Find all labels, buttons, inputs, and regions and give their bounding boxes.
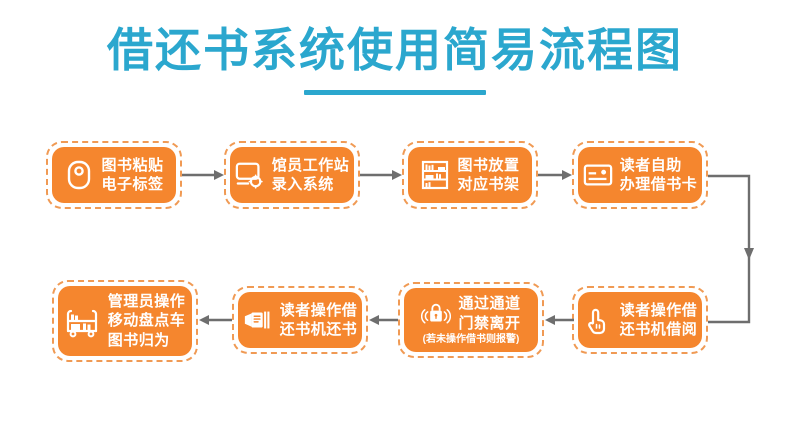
flow-node-admin-mobile-inventory-cart[interactable]: 管理员操作 移动盘点车 图书归为 xyxy=(52,280,198,362)
flowchart-page: 借还书系统使用简易流程图 图书粘贴 电子标签 xyxy=(0,0,790,430)
bookshelf-icon xyxy=(420,160,450,190)
flow-node-reader-return-machine[interactable]: 读者操作借 还书机还书 xyxy=(232,286,368,354)
connector-n3-to-n4 xyxy=(538,166,574,184)
flow-node-reader-self-service-card[interactable]: 读者自助 办理借书卡 xyxy=(572,141,708,209)
flow-node-footnote: (若未操作借书则报警) xyxy=(423,334,520,346)
node-line-1: 通过通道 xyxy=(458,294,520,313)
flow-node-label: 读者操作借 还书机借阅 xyxy=(620,301,698,339)
node-line-1: 读者操作借 xyxy=(280,301,358,320)
connector-n2-to-n3 xyxy=(360,166,404,184)
flow-node-exit-security-gate[interactable]: 通过通道 门禁离开 (若未操作借书则报警) xyxy=(398,282,544,358)
node-line-2: 办理借书卡 xyxy=(620,175,698,194)
library-card-icon xyxy=(583,160,613,190)
flow-node-label: 图书粘贴 电子标签 xyxy=(101,156,163,194)
node-line-2: 移动盘点车 xyxy=(108,311,186,330)
tag-icon xyxy=(64,160,94,190)
workstation-monitor-gear-icon xyxy=(235,160,265,190)
node-line-1: 读者自助 xyxy=(620,156,682,175)
node-line-2: 对应书架 xyxy=(457,175,519,194)
flow-node-label: 读者自助 办理借书卡 xyxy=(620,156,698,194)
node-line-1: 管理员操作 xyxy=(108,292,186,311)
node-line-2: 录入系统 xyxy=(272,175,334,194)
node-line-1: 馆员工作站 xyxy=(272,156,350,175)
node-line-1: 读者操作借 xyxy=(620,301,698,320)
touch-hand-icon xyxy=(583,305,613,335)
flow-node-shelve-books[interactable]: 图书放置 对应书架 xyxy=(402,141,538,209)
node-line-1: 图书放置 xyxy=(457,156,519,175)
node-line-2: 电子标签 xyxy=(101,175,163,194)
flow-node-label: 读者操作借 还书机还书 xyxy=(280,301,358,339)
flow-node-librarian-workstation-entry[interactable]: 馆员工作站 录入系统 xyxy=(224,141,360,209)
hand-returning-books-icon xyxy=(243,305,273,335)
connector-n6-to-n7 xyxy=(368,311,400,329)
book-cart-icon xyxy=(65,304,101,338)
title-underline-divider xyxy=(304,90,486,95)
flow-node-attach-rfid-tag[interactable]: 图书粘贴 电子标签 xyxy=(46,141,182,209)
node-line-2: 还书机还书 xyxy=(280,320,358,339)
flow-node-label: 通过通道 门禁离开 xyxy=(458,294,520,332)
page-title: 借还书系统使用简易流程图 xyxy=(0,22,790,80)
connector-n5-to-n6 xyxy=(544,311,576,329)
node-line-2: 还书机借阅 xyxy=(620,320,698,339)
node-line-3: 图书归为 xyxy=(108,331,170,350)
security-gate-lock-icon xyxy=(421,299,451,329)
flow-node-reader-borrow-machine[interactable]: 读者操作借 还书机借阅 xyxy=(572,286,708,354)
flow-node-label: 馆员工作站 录入系统 xyxy=(272,156,350,194)
node-line-1: 图书粘贴 xyxy=(101,156,163,175)
node-line-2: 门禁离开 xyxy=(458,314,520,333)
connector-n1-to-n2 xyxy=(182,166,226,184)
connector-n7-to-n8 xyxy=(198,311,234,329)
page-title-block: 借还书系统使用简易流程图 xyxy=(0,22,790,95)
connector-n4-to-n5 xyxy=(706,170,766,330)
flow-node-label: 管理员操作 移动盘点车 图书归为 xyxy=(108,292,186,350)
flow-node-label: 图书放置 对应书架 xyxy=(457,156,519,194)
